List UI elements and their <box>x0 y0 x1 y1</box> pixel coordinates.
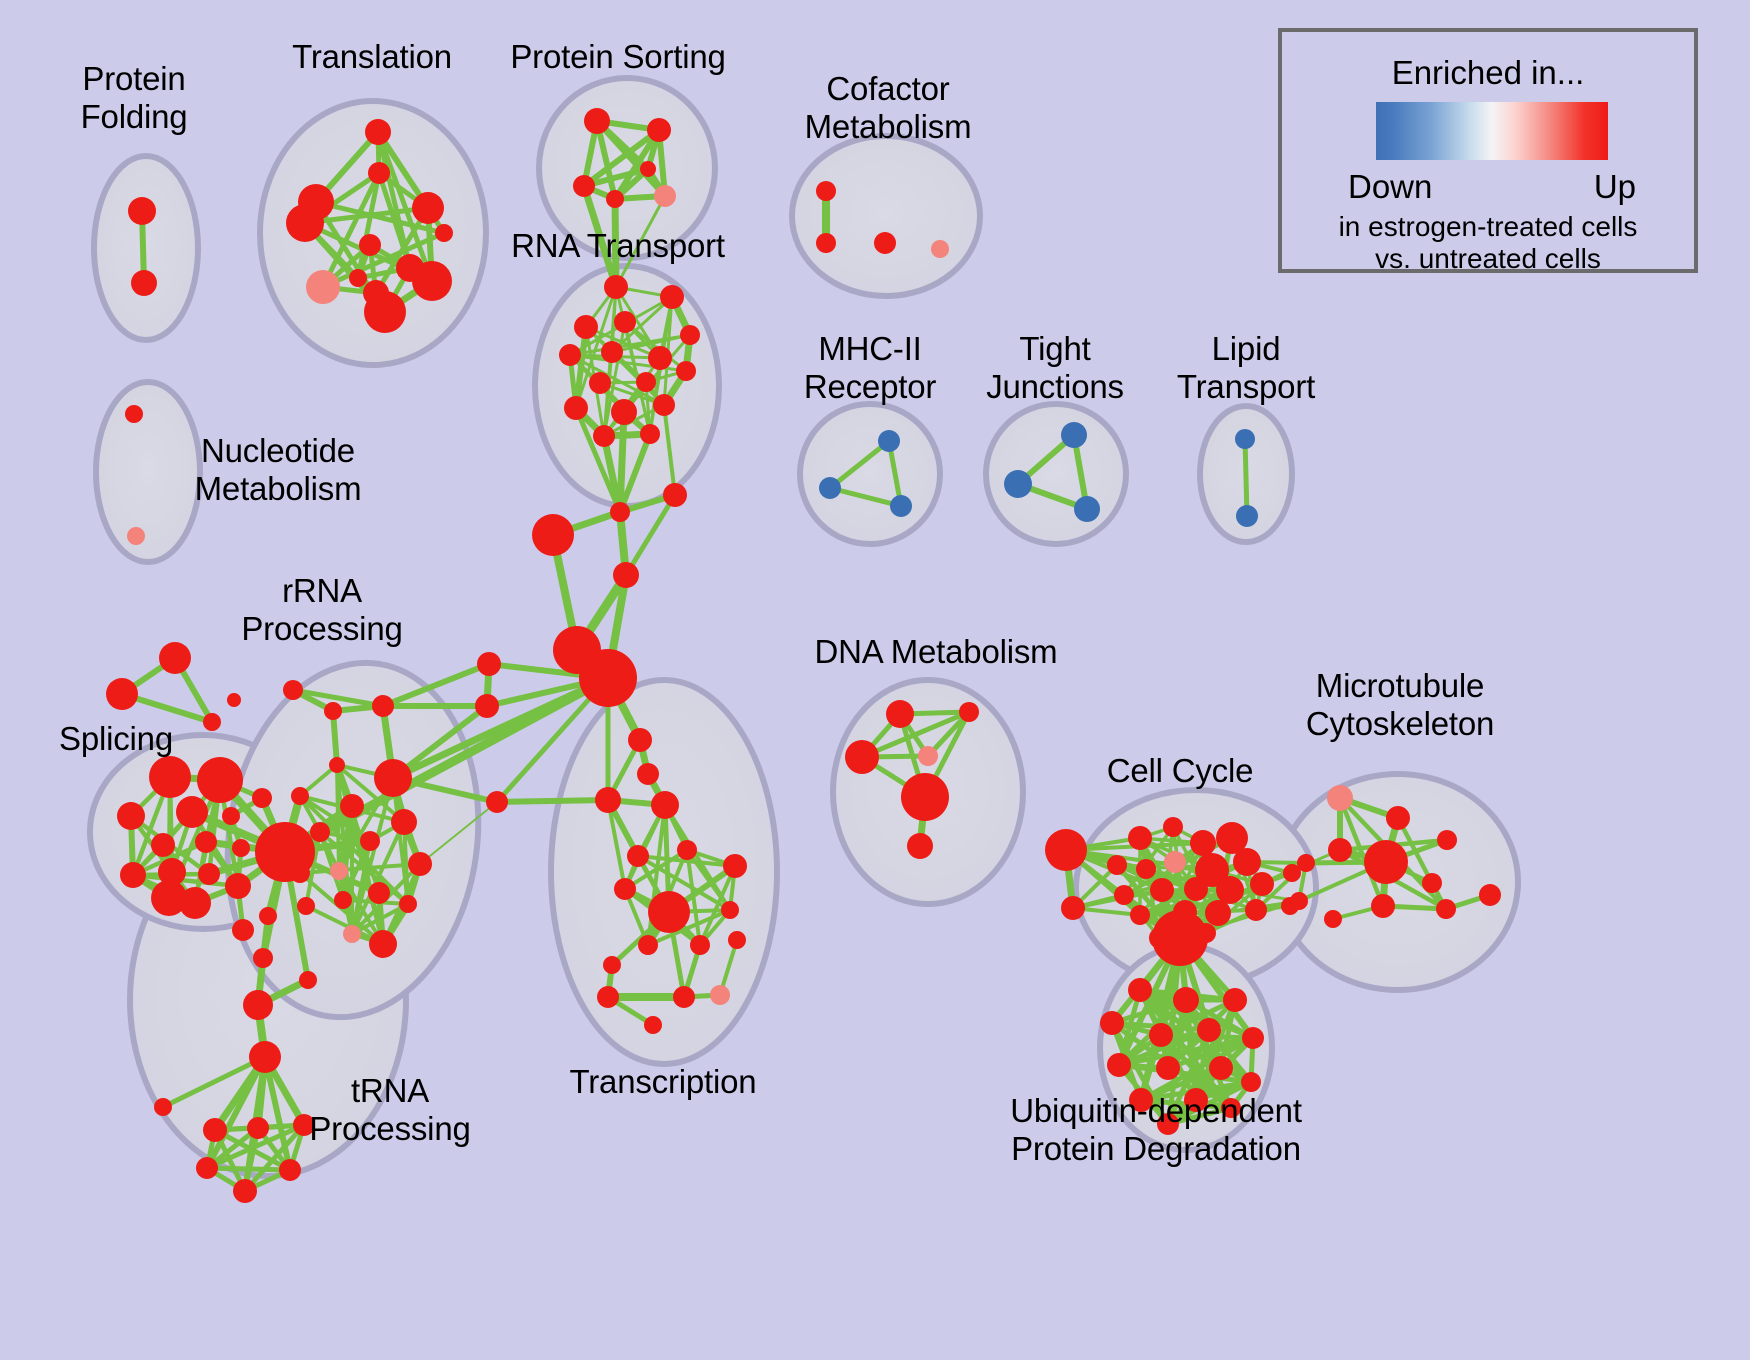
network-node <box>819 477 841 499</box>
network-node <box>117 802 145 830</box>
network-node <box>637 763 659 785</box>
network-node <box>391 809 417 835</box>
network-node <box>1436 899 1456 919</box>
network-node <box>574 315 598 339</box>
cluster-label-trna-processing: tRNA Processing <box>309 1072 470 1148</box>
cluster-label-transcription: Transcription <box>570 1063 757 1101</box>
network-node <box>653 394 675 416</box>
cluster-label-ubiquitin: Ubiquitin-dependent Protein Degradation <box>1010 1092 1302 1168</box>
network-node <box>640 424 660 444</box>
network-node <box>151 833 175 857</box>
network-node <box>1190 830 1216 856</box>
network-node <box>606 190 624 208</box>
network-node <box>723 854 747 878</box>
network-node <box>195 831 217 853</box>
network-node <box>252 788 272 808</box>
legend-subtitle-line-1: in estrogen-treated cells <box>1282 211 1694 243</box>
network-node <box>1216 876 1244 904</box>
network-node <box>1136 859 1156 879</box>
network-node <box>1386 806 1410 830</box>
cluster-label-cell-cycle: Cell Cycle <box>1107 752 1254 790</box>
network-node <box>1163 817 1183 837</box>
network-node <box>343 925 361 943</box>
cluster-label-microtubule: Microtubule Cytoskeleton <box>1306 667 1494 743</box>
network-node <box>227 693 241 707</box>
network-node <box>128 197 156 225</box>
network-node <box>1004 470 1032 498</box>
network-node <box>573 175 595 197</box>
network-node <box>613 562 639 588</box>
network-node <box>225 873 251 899</box>
network-node <box>222 807 240 825</box>
cluster-label-tight-junctions: Tight Junctions <box>986 330 1124 406</box>
network-node <box>1164 851 1186 873</box>
network-node <box>399 895 417 913</box>
network-node <box>710 985 730 1005</box>
network-node <box>676 361 696 381</box>
network-node <box>874 232 896 254</box>
cluster-label-lipid-transport: Lipid Transport <box>1177 330 1315 406</box>
network-node <box>648 346 672 370</box>
network-node <box>638 935 658 955</box>
network-node <box>1241 1072 1261 1092</box>
legend-subtitle-line-2: vs. untreated cells <box>1282 243 1694 275</box>
network-node <box>597 986 619 1008</box>
cluster-label-protein-sorting: Protein Sorting <box>510 38 725 76</box>
network-node <box>365 119 391 145</box>
network-node <box>816 181 836 201</box>
network-node <box>1156 1056 1180 1080</box>
network-node <box>673 986 695 1008</box>
network-node <box>299 971 317 989</box>
network-node <box>1061 422 1087 448</box>
network-node <box>408 852 432 876</box>
network-node <box>603 956 621 974</box>
cluster-label-nucleotide-metabolism: Nucleotide Metabolism <box>195 432 362 508</box>
network-node <box>636 372 656 392</box>
network-node <box>721 901 739 919</box>
network-node <box>475 694 499 718</box>
network-node <box>286 204 324 242</box>
network-node <box>243 990 273 1020</box>
network-node <box>1236 505 1258 527</box>
network-node <box>907 833 933 859</box>
network-node <box>359 234 381 256</box>
network-node <box>627 845 649 867</box>
network-node <box>1364 840 1408 884</box>
legend-low-label: Down <box>1348 168 1432 206</box>
network-node <box>890 495 912 517</box>
cluster-label-splicing: Splicing <box>59 720 173 758</box>
network-node <box>360 831 380 851</box>
network-node <box>374 759 412 797</box>
network-node <box>1371 894 1395 918</box>
network-node <box>532 514 574 556</box>
network-node <box>728 931 746 949</box>
network-node <box>151 880 187 916</box>
network-node <box>640 161 656 177</box>
network-node <box>149 756 191 798</box>
network-node <box>1233 848 1261 876</box>
network-node <box>644 1016 662 1034</box>
network-node <box>477 652 501 676</box>
legend-color-gradient-bar <box>1376 102 1608 160</box>
network-node <box>918 746 938 766</box>
network-node <box>1245 899 1267 921</box>
network-node <box>886 700 914 728</box>
network-node <box>364 291 406 333</box>
cluster-label-translation: Translation <box>292 38 452 76</box>
network-node <box>959 702 979 722</box>
network-node <box>435 224 453 242</box>
network-node <box>233 1179 257 1203</box>
network-node <box>196 1157 218 1179</box>
network-node <box>1045 829 1087 871</box>
network-node <box>334 891 352 909</box>
enrichment-network-figure: Protein FoldingTranslationProtein Sortin… <box>0 0 1750 1360</box>
network-node <box>340 794 364 818</box>
cluster-hull-nucleotide-metabolism <box>96 382 200 562</box>
network-node <box>232 919 254 941</box>
network-node <box>412 192 444 224</box>
cluster-label-protein-folding: Protein Folding <box>81 60 188 136</box>
network-node <box>1328 838 1352 862</box>
network-node <box>1149 1023 1173 1047</box>
network-node <box>1223 988 1247 1012</box>
network-node <box>1250 872 1274 896</box>
network-node <box>651 791 679 819</box>
network-node <box>203 713 221 731</box>
network-node <box>579 649 637 707</box>
network-node <box>604 275 628 299</box>
network-node <box>259 907 277 925</box>
cluster-label-rrna-processing: rRNA Processing <box>241 572 402 648</box>
network-node <box>197 757 243 803</box>
network-node <box>198 863 220 885</box>
network-node <box>611 399 637 425</box>
network-node <box>330 862 348 880</box>
network-node <box>1290 892 1308 910</box>
network-node <box>127 527 145 545</box>
network-edge <box>1245 439 1247 516</box>
network-node <box>1128 826 1152 850</box>
network-node <box>106 678 138 710</box>
network-node <box>1205 900 1231 926</box>
network-node <box>1107 855 1127 875</box>
network-node <box>1479 884 1501 906</box>
network-node <box>663 483 687 507</box>
network-node <box>1197 1018 1221 1042</box>
network-node <box>593 425 615 447</box>
network-node <box>559 344 581 366</box>
network-node <box>120 862 146 888</box>
network-node <box>324 702 342 720</box>
network-node <box>176 796 208 828</box>
network-node <box>1061 896 1085 920</box>
network-node <box>486 791 508 813</box>
network-node <box>654 185 676 207</box>
cluster-label-cofactor-metabolism: Cofactor Metabolism <box>805 70 972 146</box>
cluster-label-dna-metabolism: DNA Metabolism <box>815 633 1058 671</box>
network-node <box>1128 978 1152 1002</box>
network-node <box>647 118 671 142</box>
network-node <box>279 1159 301 1181</box>
network-node <box>878 430 900 452</box>
network-node <box>290 863 310 883</box>
network-node <box>1327 785 1353 811</box>
network-node <box>680 325 700 345</box>
network-node <box>1209 1056 1233 1080</box>
network-node <box>249 1041 281 1073</box>
network-node <box>648 891 690 933</box>
network-node <box>601 341 623 363</box>
network-node <box>845 740 879 774</box>
network-node <box>368 162 390 184</box>
network-node <box>1152 910 1208 966</box>
network-node <box>931 240 949 258</box>
network-edge <box>497 800 608 802</box>
network-node <box>247 1117 269 1139</box>
network-node <box>1297 854 1315 872</box>
network-node <box>349 269 367 287</box>
cluster-hull-tight-junctions <box>986 404 1126 544</box>
network-node <box>614 311 636 333</box>
network-node <box>816 233 836 253</box>
network-node <box>1074 496 1100 522</box>
network-node <box>125 405 143 423</box>
network-node <box>1242 1027 1264 1049</box>
legend-title: Enriched in... <box>1282 54 1694 92</box>
network-node <box>564 396 588 420</box>
cluster-label-rna-transport: RNA Transport <box>511 227 725 265</box>
network-node <box>677 840 697 860</box>
network-node <box>253 948 273 968</box>
network-node <box>368 882 390 904</box>
network-node <box>372 695 394 717</box>
network-node <box>589 372 611 394</box>
legend-high-label: Up <box>1594 168 1636 206</box>
network-node <box>1100 1011 1124 1035</box>
network-node <box>1184 877 1208 901</box>
legend-box: Enriched in... Down Up in estrogen-treat… <box>1278 28 1698 273</box>
network-node <box>690 935 710 955</box>
network-node <box>283 680 303 700</box>
network-node <box>291 787 309 805</box>
network-node <box>1107 1053 1131 1077</box>
cluster-label-mhc-ii-receptor: MHC-II Receptor <box>804 330 936 406</box>
network-node <box>131 270 157 296</box>
network-node <box>297 897 315 915</box>
network-node <box>310 822 330 842</box>
network-node <box>1324 910 1342 928</box>
network-node <box>203 1118 227 1142</box>
network-node <box>628 728 652 752</box>
network-node <box>1173 987 1199 1013</box>
network-node <box>329 757 345 773</box>
network-node <box>412 261 452 301</box>
network-node <box>1437 830 1457 850</box>
network-node <box>901 773 949 821</box>
network-node <box>614 878 636 900</box>
network-node <box>1130 905 1150 925</box>
network-node <box>306 270 340 304</box>
network-node <box>159 642 191 674</box>
network-node <box>1150 878 1174 902</box>
network-node <box>232 839 250 857</box>
network-node <box>1422 873 1442 893</box>
network-node <box>610 502 630 522</box>
network-node <box>1235 429 1255 449</box>
network-node <box>1114 885 1134 905</box>
network-node <box>584 108 610 134</box>
network-node <box>369 930 397 958</box>
cluster-hull-mhc-ii-receptor <box>800 404 940 544</box>
cluster-hull-cofactor-metabolism <box>792 136 980 296</box>
network-node <box>595 787 621 813</box>
network-node <box>660 285 684 309</box>
network-edge <box>207 1168 290 1170</box>
network-node <box>154 1098 172 1116</box>
